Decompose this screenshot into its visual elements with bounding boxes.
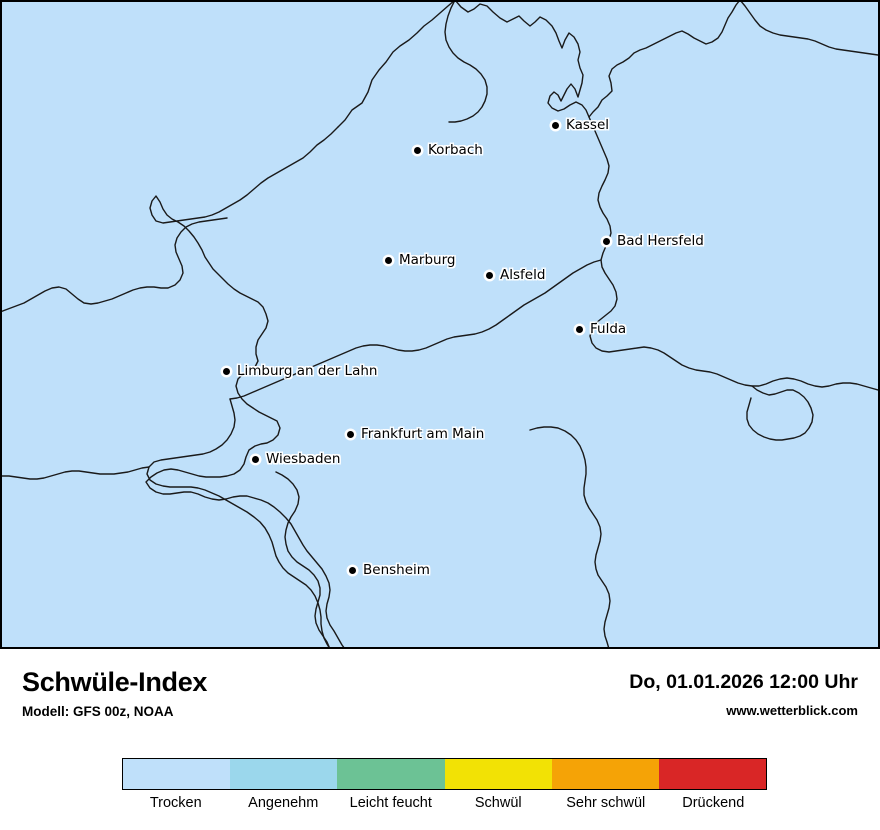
city-dot-icon	[486, 272, 493, 279]
legend-swatch-trocken[interactable]	[123, 759, 230, 789]
legend-label-sehr-schwuel: Sehr schwül	[552, 795, 660, 812]
city-marker[interactable]: Korbach	[414, 144, 483, 158]
legend-labels: Trocken Angenehm Leicht feucht Schwül Se…	[122, 795, 767, 812]
city-dot-icon	[414, 147, 421, 154]
city-label: Marburg	[399, 254, 455, 268]
title-block-right: Do, 01.01.2026 12:00 Uhr www.wetterblick…	[629, 673, 858, 717]
legend-label-trocken: Trocken	[122, 795, 230, 812]
legend-label-leicht-feucht: Leicht feucht	[337, 795, 445, 812]
region-boundaries-svg	[0, 0, 880, 649]
city-marker[interactable]: Marburg	[385, 254, 455, 268]
city-dot-icon	[252, 456, 259, 463]
footer-panel: Schwüle-Index Modell: GFS 00z, NOAA Do, …	[0, 649, 880, 830]
page-title: Schwüle-Index	[22, 669, 207, 696]
legend-swatch-leicht-feucht[interactable]	[337, 759, 444, 789]
city-label: Bensheim	[363, 564, 430, 578]
legend-label-angenehm: Angenehm	[230, 795, 338, 812]
city-marker[interactable]: Fulda	[576, 323, 626, 337]
city-marker[interactable]: Wiesbaden	[252, 453, 340, 467]
city-marker[interactable]: Bad Hersfeld	[603, 235, 704, 249]
city-label: Wiesbaden	[266, 453, 340, 467]
city-label: Alsfeld	[500, 269, 545, 283]
legend-swatch-angenehm[interactable]	[230, 759, 337, 789]
city-label: Kassel	[566, 119, 609, 133]
legend-swatch-sehr-schwuel[interactable]	[552, 759, 659, 789]
state-border-paths	[0, 0, 878, 649]
city-label: Korbach	[428, 144, 483, 158]
valid-datetime: Do, 01.01.2026 12:00 Uhr	[629, 673, 858, 693]
map-panel[interactable]: Kassel Korbach Bad Hersfeld Marburg Alsf…	[0, 0, 880, 649]
city-dot-icon	[603, 238, 610, 245]
city-marker[interactable]: Alsfeld	[486, 269, 545, 283]
title-block-left: Schwüle-Index Modell: GFS 00z, NOAA	[22, 669, 207, 719]
city-marker[interactable]: Frankfurt am Main	[347, 428, 484, 442]
city-dot-icon	[223, 368, 230, 375]
site-url: www.wetterblick.com	[629, 704, 858, 717]
legend-label-drueckend: Drückend	[660, 795, 768, 812]
city-label: Bad Hersfeld	[617, 235, 704, 249]
legend-color-bar[interactable]	[122, 758, 767, 790]
city-dot-icon	[347, 431, 354, 438]
title-row: Schwüle-Index Modell: GFS 00z, NOAA Do, …	[0, 649, 880, 734]
city-marker[interactable]: Limburg an der Lahn	[223, 365, 377, 379]
model-subtitle: Modell: GFS 00z, NOAA	[22, 705, 207, 719]
legend-swatch-schwuel[interactable]	[445, 759, 552, 789]
weather-map-page: Kassel Korbach Bad Hersfeld Marburg Alsf…	[0, 0, 880, 830]
city-marker[interactable]: Kassel	[552, 119, 609, 133]
city-label: Limburg an der Lahn	[237, 365, 377, 379]
legend-label-schwuel: Schwül	[445, 795, 553, 812]
city-label: Fulda	[590, 323, 626, 337]
city-label: Frankfurt am Main	[361, 428, 484, 442]
city-marker[interactable]: Bensheim	[349, 564, 430, 578]
city-dot-icon	[552, 122, 559, 129]
city-dot-icon	[349, 567, 356, 574]
legend: Trocken Angenehm Leicht feucht Schwül Se…	[122, 758, 767, 812]
city-dot-icon	[385, 257, 392, 264]
legend-swatch-drueckend[interactable]	[659, 759, 766, 789]
city-dot-icon	[576, 326, 583, 333]
